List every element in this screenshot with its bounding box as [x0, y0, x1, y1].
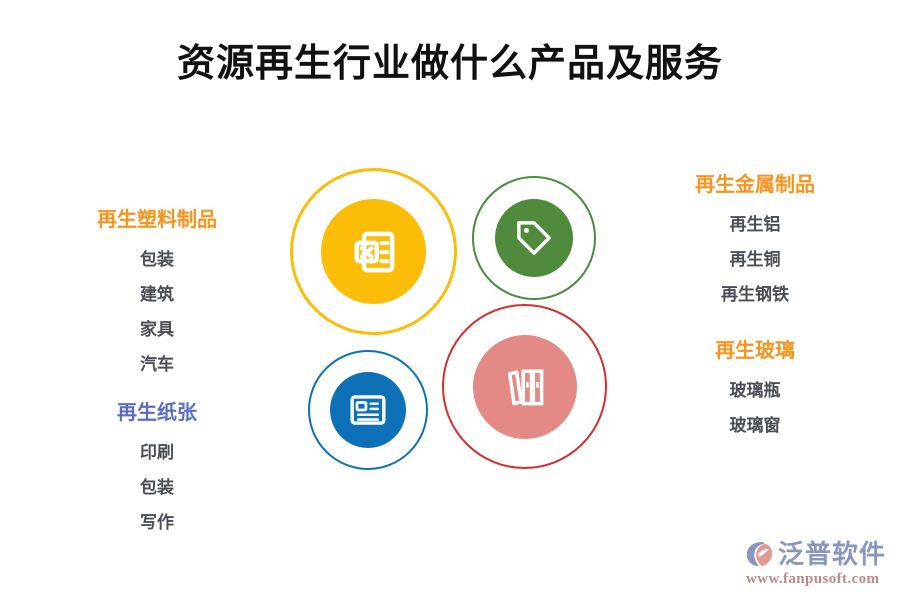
- list-item: 包装: [42, 470, 272, 505]
- list-item: 印刷: [42, 435, 272, 470]
- group-recycled-glass: 再生玻璃 玻璃瓶 玻璃窗: [640, 336, 870, 443]
- page-title: 资源再生行业做什么产品及服务: [0, 44, 900, 86]
- group-items-recycled-metal: 再生铝 再生铜 再生钢铁: [640, 207, 870, 312]
- list-item: 家具: [42, 312, 272, 347]
- circle-fill-yellow: [321, 199, 426, 304]
- list-item: 建筑: [42, 277, 272, 312]
- circle-fill-pink: [473, 335, 577, 439]
- circle-badge-metal: [472, 176, 596, 300]
- list-item: 玻璃瓶: [640, 373, 870, 408]
- group-heading-recycled-paper: 再生纸张: [42, 398, 272, 429]
- books-icon: [497, 359, 553, 415]
- document-form-icon: [345, 223, 403, 281]
- group-items-recycled-glass: 玻璃瓶 玻璃窗: [640, 373, 870, 443]
- group-heading-recycled-plastic: 再生塑料制品: [42, 205, 272, 236]
- list-item: 包装: [42, 242, 272, 277]
- right-column: 再生金属制品 再生铝 再生铜 再生钢铁 再生玻璃 玻璃瓶 玻璃窗: [640, 170, 870, 447]
- group-heading-recycled-metal: 再生金属制品: [640, 170, 870, 201]
- logo-url: www.fanpusoft.com: [746, 571, 879, 588]
- left-column: 再生塑料制品 包装 建筑 家具 汽车 再生纸张 印刷 包装 写作: [42, 205, 272, 544]
- list-item: 再生铜: [640, 242, 870, 277]
- list-item: 汽车: [42, 347, 272, 382]
- group-items-recycled-plastic: 包装 建筑 家具 汽车: [42, 242, 272, 382]
- group-recycled-paper: 再生纸张 印刷 包装 写作: [42, 398, 272, 540]
- list-item: 再生钢铁: [640, 277, 870, 312]
- fanpu-swoosh-icon: [744, 539, 774, 569]
- list-item: 写作: [42, 505, 272, 540]
- price-tag-icon: [512, 216, 556, 260]
- circle-badge-plastic: [290, 168, 457, 335]
- logo-name: 泛普软件: [778, 541, 886, 567]
- group-recycled-metal: 再生金属制品 再生铝 再生铜 再生钢铁: [640, 170, 870, 312]
- circle-badge-paper: [308, 350, 428, 470]
- list-item: 玻璃窗: [640, 408, 870, 443]
- brand-logo: 泛普软件 www.fanpusoft.com: [744, 539, 886, 588]
- icon-cluster: [290, 160, 630, 500]
- group-items-recycled-paper: 印刷 包装 写作: [42, 435, 272, 540]
- circle-badge-glass: [442, 304, 607, 469]
- newspaper-icon: [346, 388, 390, 432]
- list-item: 再生铝: [640, 207, 870, 242]
- logo-row: 泛普软件: [744, 539, 886, 569]
- group-heading-recycled-glass: 再生玻璃: [640, 336, 870, 367]
- group-recycled-plastic: 再生塑料制品 包装 建筑 家具 汽车: [42, 205, 272, 382]
- circle-fill-blue: [330, 372, 406, 448]
- circle-fill-green: [495, 199, 573, 277]
